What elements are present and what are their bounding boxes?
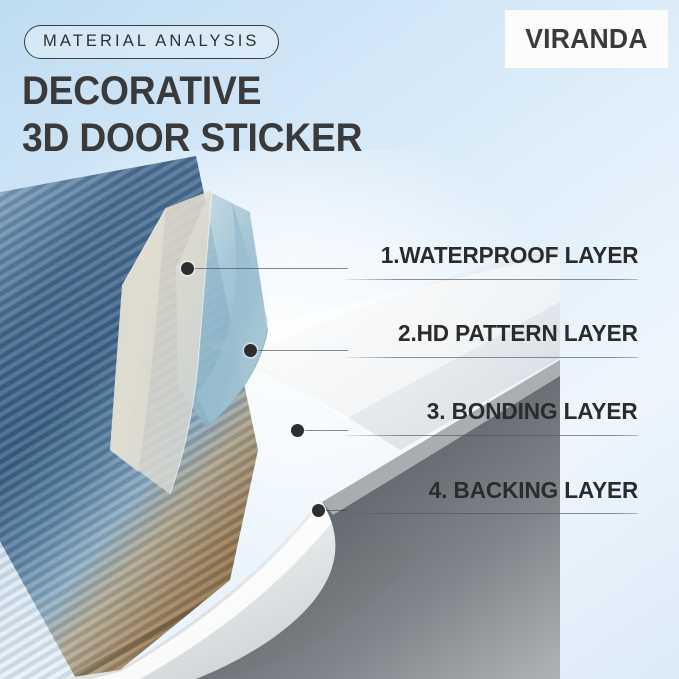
callout-dot-4[interactable] bbox=[312, 504, 325, 517]
brand-name: VIRANDA bbox=[525, 23, 648, 55]
callout-leader-3 bbox=[303, 430, 348, 431]
callout-dot-2[interactable] bbox=[244, 344, 257, 357]
callout-dot-3[interactable] bbox=[291, 424, 304, 437]
brand-logo-box: VIRANDA bbox=[505, 10, 668, 68]
callout-label-3: 3. BONDING LAYER bbox=[427, 400, 638, 424]
callout-label-2: 2.HD PATTERN LAYER bbox=[398, 322, 638, 346]
callout-leader-2 bbox=[256, 350, 348, 351]
callout-leader-4 bbox=[324, 510, 348, 511]
poster-canvas: MATERIAL ANALYSIS DECORATIVE 3D DOOR STI… bbox=[0, 0, 679, 679]
callout-rule-2 bbox=[345, 357, 638, 358]
callout-rule-3 bbox=[345, 435, 638, 436]
callout-label-1: 1.WATERPROOF LAYER bbox=[380, 244, 638, 268]
title-line-1: DECORATIVE bbox=[22, 68, 362, 115]
callout-leader-1 bbox=[193, 268, 348, 269]
eyebrow-badge: MATERIAL ANALYSIS bbox=[24, 25, 279, 59]
page-title: DECORATIVE 3D DOOR STICKER bbox=[22, 68, 362, 162]
title-line-2: 3D DOOR STICKER bbox=[22, 115, 362, 162]
callout-dot-1[interactable] bbox=[181, 262, 194, 275]
callout-label-4: 4. BACKING LAYER bbox=[429, 479, 638, 503]
callout-rule-4 bbox=[345, 513, 638, 514]
callout-rule-1 bbox=[345, 279, 638, 280]
